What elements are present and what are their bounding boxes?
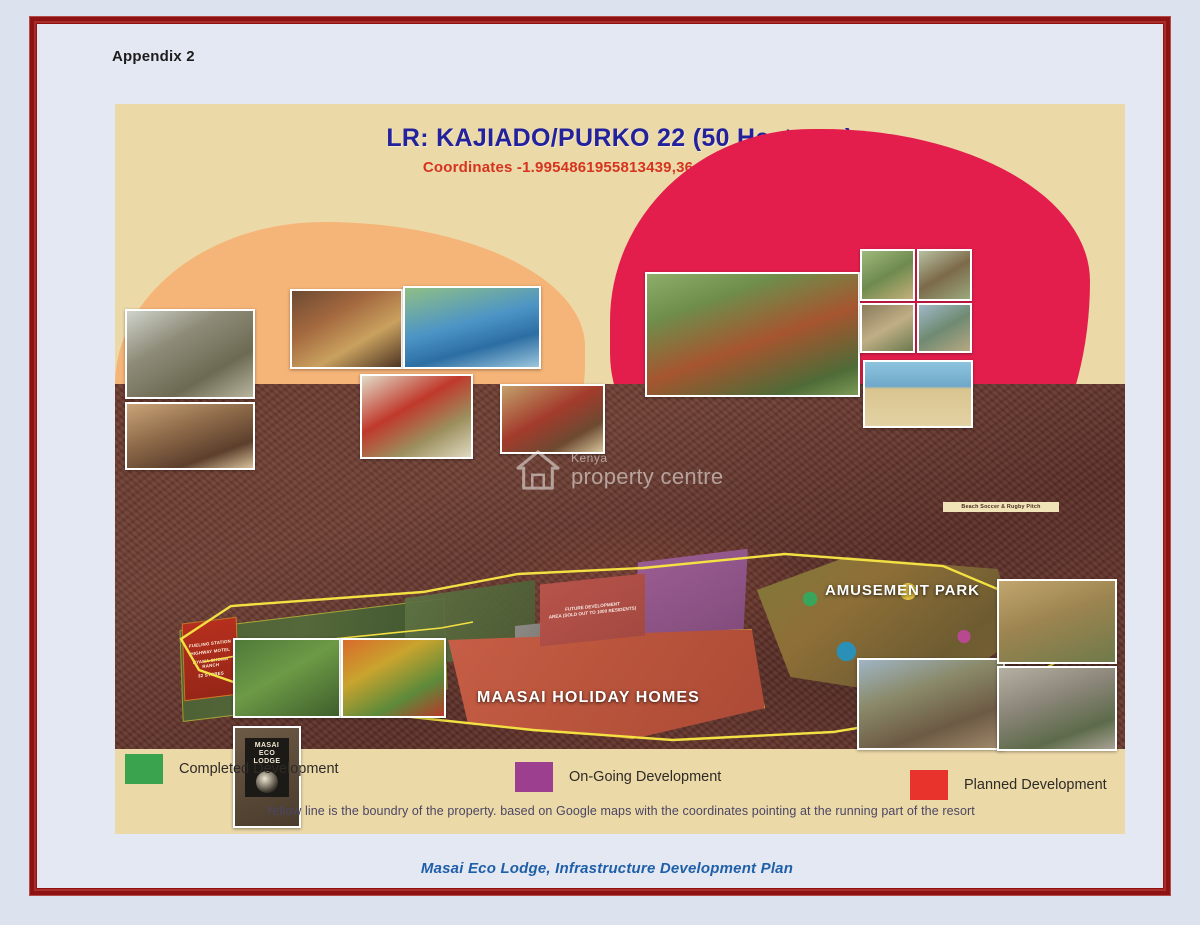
legend-item-planned: Planned Development [910,770,1107,800]
restaurant-interior-photo [290,289,403,369]
construction-photo-3 [860,303,915,353]
parcel-maasai-holiday-homes [435,629,765,739]
page-root: Appendix 2 LR: KAJIADO/PURKO 22 (50 Hect… [0,0,1200,925]
legend-label-completed: Completed Development [179,761,339,777]
label-amusement-park: AMUSEMENT PARK [825,582,980,599]
aerial-site-photo-2 [997,666,1117,751]
parcel-future-development: FUTURE DEVELOPMENT AREA (SOLD OUT TO 100… [540,573,645,646]
document-frame: Appendix 2 LR: KAJIADO/PURKO 22 (50 Hect… [30,17,1170,895]
stone-lodge-photo [125,309,255,399]
parcel-commercial-strip: FUELING STATION HIGHWAY MOTEL NYAMA CHOM… [182,617,240,701]
conference-hall-photo [125,402,255,470]
construction-photo-2 [917,249,972,301]
quad-bikes-photo [857,658,1005,750]
legend-label-ongoing: On-Going Development [569,769,721,785]
appendix-label: Appendix 2 [112,48,195,65]
legend-item-completed: Completed Development [125,754,339,784]
vegetable-field-photo [233,638,341,718]
footer-caption: Masai Eco Lodge, Infrastructure Developm… [37,860,1177,877]
beach-pitch-photo [863,360,973,428]
label-maasai-holiday-homes: MAASAI HOLIDAY HOMES [477,689,700,707]
legend-item-ongoing: On-Going Development [515,762,721,792]
swimming-pool-photo [403,286,541,369]
legend-swatch-ongoing [515,762,553,792]
bedroom-photo [360,374,473,459]
dining-hall-photo [500,384,605,454]
produce-photo [341,638,446,718]
legend-label-planned: Planned Development [964,777,1107,793]
thatched-hut-photo [645,272,860,397]
red-sign-line-3: NYAMA CHOMA RANCH [186,655,235,672]
legend-swatch-completed [125,754,163,784]
legend-note: Yellow line is the boundry of the proper… [115,804,1125,818]
construction-photo-1 [860,249,915,301]
red-sign-line-4: 32 STORES [198,670,224,679]
poster-panel: LR: KAJIADO/PURKO 22 (50 Hectares) Coord… [115,104,1125,834]
eco-sign-line-1: MASAI [255,742,280,749]
aerial-site-photo-1 [997,579,1117,664]
construction-photo-4 [917,303,972,353]
legend: Completed Development On-Going Developme… [115,752,1125,800]
page-title: LR: KAJIADO/PURKO 22 (50 Hectares) [115,124,1125,153]
legend-swatch-planned [910,770,948,800]
beach-pitch-caption: Beach Soccer & Rugby Pitch [943,502,1059,512]
